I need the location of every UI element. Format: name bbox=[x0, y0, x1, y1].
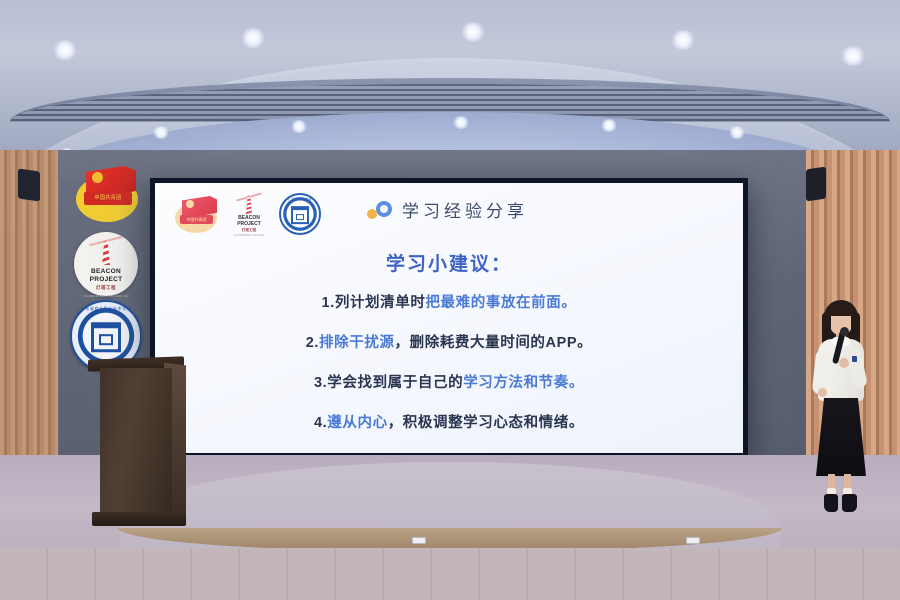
beacon-line3: 灯塔工程 bbox=[74, 284, 138, 292]
projection-screen-frame: 中国共青团 BEACON PROJECT 灯塔工程 GUANGDONG COLL… bbox=[150, 178, 748, 458]
auditorium-scene: 中国共青团 BEACON PROJECT 灯塔工程 GUANGDONG COLL… bbox=[0, 0, 900, 600]
beacon-line2: PROJECT bbox=[74, 276, 138, 284]
ceiling-light bbox=[670, 30, 696, 50]
presenter-hand-right bbox=[839, 358, 849, 368]
slide-logo-row: 中国共青团 BEACON PROJECT 灯塔工程 GUANGDONG COLL… bbox=[173, 193, 321, 235]
beacon-line1: BEACON bbox=[74, 268, 138, 276]
slide-bullet-item: 3.学会找到属于自己的学习方法和节奏。 bbox=[155, 371, 743, 392]
podium-base bbox=[92, 512, 186, 526]
slide-header-title: 学习经验分享 bbox=[402, 197, 528, 222]
ceiling-light bbox=[240, 28, 266, 48]
slide-seal-arc-text: 广东省商业学校 bbox=[281, 197, 319, 201]
ceiling-light bbox=[840, 46, 866, 66]
ceiling-light bbox=[452, 116, 470, 129]
slide-cyl-text: 中国共青团 bbox=[180, 215, 213, 224]
slide-logo-beacon-project: BEACON PROJECT 灯塔工程 GUANGDONG COLLEGE bbox=[231, 194, 267, 234]
slide-heading: 学习小建议： bbox=[155, 249, 743, 276]
presenter-badge bbox=[852, 356, 857, 362]
ceiling-light bbox=[290, 120, 308, 133]
ceiling-light bbox=[52, 40, 78, 60]
bullet-number: 1. bbox=[322, 295, 335, 311]
bullet-highlight: 排除干扰源 bbox=[319, 335, 395, 351]
ceiling bbox=[0, 0, 900, 175]
bullet-number: 3. bbox=[314, 375, 327, 391]
lighthouse-icon bbox=[99, 241, 113, 265]
wall-speaker-left-icon bbox=[18, 168, 40, 201]
slide-bullet-item: 1.列计划清单时把最难的事放在前面。 bbox=[155, 291, 743, 312]
star-icon bbox=[186, 200, 194, 208]
floor-outlet bbox=[686, 537, 700, 544]
slide-header: 学习经验分享 bbox=[367, 197, 528, 222]
slide-bullet-list: 1.列计划清单时把最难的事放在前面。 2.排除干扰源，删除耗费大量时间的APP。… bbox=[155, 291, 743, 451]
presenter-boot-left bbox=[824, 494, 838, 512]
front-floor bbox=[0, 548, 900, 600]
slide-bullet-item: 4.遵从内心，积极调整学习心态和情绪。 bbox=[155, 411, 743, 432]
bullet-number: 2. bbox=[306, 335, 319, 351]
wall-logo-beacon-project: BEACON PROJECT 灯塔工程 GUANGDONG COLLEGE OF… bbox=[74, 232, 138, 296]
seal-glyph-icon bbox=[291, 206, 309, 224]
presenter-person bbox=[806, 300, 876, 526]
wall-logo-communist-youth-league: 中国共青团 bbox=[72, 162, 142, 224]
slide-beacon-line4: GUANGDONG COLLEGE bbox=[231, 233, 267, 239]
seal-arc-text: 广东省商业职业技术学校 bbox=[72, 306, 140, 312]
seal-glyph-icon bbox=[91, 322, 121, 352]
bullet-highlight: 把最难的事放在前面。 bbox=[425, 295, 576, 311]
ceiling-light bbox=[460, 22, 486, 42]
podium-body: GUANGDONG COLLEGE OF GCC COMMERCE bbox=[100, 368, 172, 520]
floor-outlet bbox=[412, 537, 426, 544]
lighthouse-icon bbox=[244, 196, 254, 214]
slide-logo-college-seal: 广东省商业学校 bbox=[279, 193, 321, 235]
ceiling-light bbox=[600, 119, 618, 132]
ceiling-light bbox=[728, 126, 746, 139]
bullet-plain-1: 学会找到属于自己的 bbox=[327, 375, 463, 391]
blue-ring-icon bbox=[376, 201, 392, 217]
presenter-fringe bbox=[828, 304, 854, 316]
microphone-head-icon bbox=[840, 327, 849, 336]
bullet-plain-1: 列计划清单时 bbox=[335, 295, 426, 311]
presenter-skirt bbox=[816, 398, 866, 476]
bullet-plain-2: ，积极调整学习心态和情绪。 bbox=[388, 415, 584, 431]
slide-header-icon bbox=[367, 201, 395, 219]
bullet-number: 4. bbox=[314, 415, 327, 431]
presenter-boot-right bbox=[842, 494, 857, 512]
bullet-plain-2: ，删除耗费大量时间的APP。 bbox=[395, 335, 593, 351]
wall-speaker-right-icon bbox=[806, 167, 826, 202]
bullet-highlight: 遵从内心 bbox=[327, 415, 387, 431]
slide-logo-communist-youth-league: 中国共青团 bbox=[173, 194, 219, 234]
star-icon bbox=[92, 172, 103, 183]
ceiling-light bbox=[152, 126, 170, 139]
wall-logo-cyl-text: 中国共青团 bbox=[84, 192, 132, 205]
projected-slide: 中国共青团 BEACON PROJECT 灯塔工程 GUANGDONG COLL… bbox=[155, 183, 743, 453]
presenter-hand-left bbox=[818, 388, 827, 397]
bullet-highlight: 学习方法和节奏。 bbox=[463, 375, 584, 391]
slide-bullet-item: 2.排除干扰源，删除耗费大量时间的APP。 bbox=[155, 331, 743, 352]
